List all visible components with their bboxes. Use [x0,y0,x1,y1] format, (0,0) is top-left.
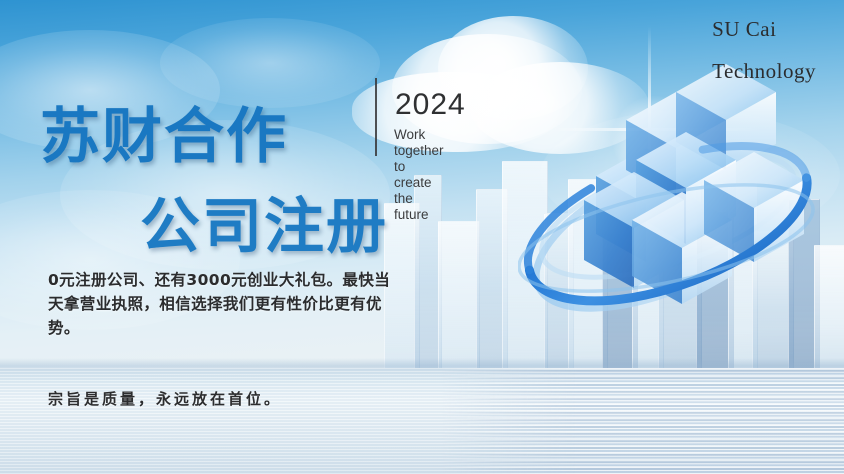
body-copy: 0元注册公司、还有3000元创业大礼包。最快当天拿营业执照，相信选择我们更有性价… [48,268,392,340]
glass-cube-cluster-icon [518,48,838,348]
year-label: 2024 [395,88,466,122]
english-tagline: Work together to create the future [394,127,444,223]
brand-lockup: SU Cai Technology [712,14,816,86]
footer-tagline: 宗旨是质量，永远放在首位。 [48,388,282,409]
brand-line-1: SU Cai [712,14,816,44]
water-ripple-icon [440,368,844,474]
vertical-divider-icon [375,78,377,156]
headline-line-1: 苏财合作 [40,88,288,175]
headline-line-2: 公司注册 [140,178,388,265]
promotional-banner: 苏财合作 公司注册 2024 Work together to create t… [0,0,844,474]
brand-line-2: Technology [712,56,816,86]
text-column: 苏财合作 公司注册 2024 Work together to create t… [0,0,420,474]
